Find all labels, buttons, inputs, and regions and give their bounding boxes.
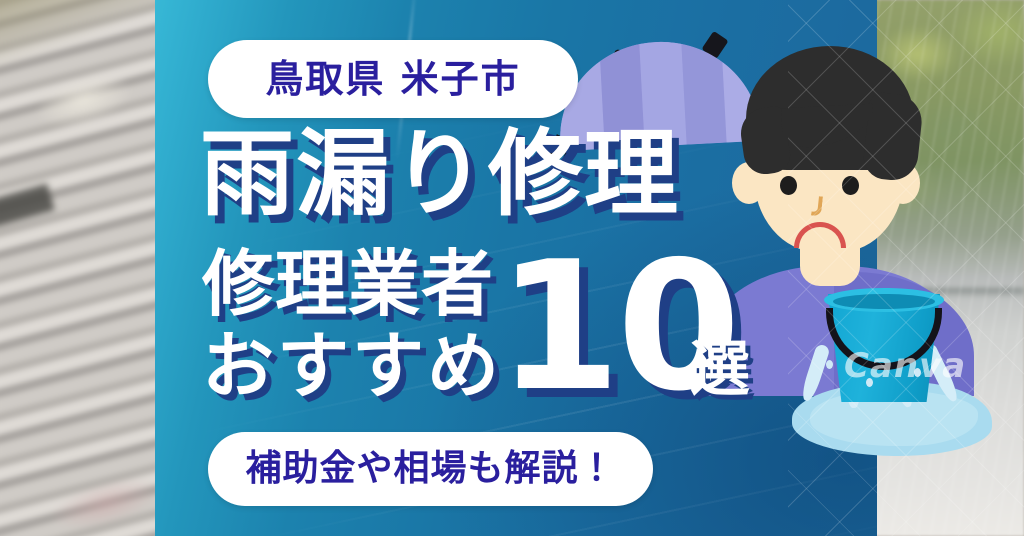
banner-root: Canva 鳥取県 米子市 雨漏り修理 修理業者 おすすめ 10 選 補助金や相… [0,0,1024,536]
subtitle-line-1: 修理業者 [202,248,494,320]
roof-tint-patch [44,467,168,536]
region-label: 鳥取県 米子市 [265,60,520,98]
person-eye-left [780,176,797,195]
roof-dark-shingle [0,183,55,227]
region-pill: 鳥取県 米子市 [208,40,578,118]
roof-moss-patch [29,64,140,137]
count-unit: 選 [690,340,750,400]
canva-watermark-text: Canva [844,346,966,386]
roof-photo-icon [0,0,177,536]
bucket-rim-inner [833,294,935,309]
bucket-icon: Canva [800,286,1000,466]
footer-pill: 補助金や相場も解説！ [208,432,653,506]
person-eye-right [842,176,859,195]
page-title: 雨漏り修理 [200,128,680,222]
footer-label: 補助金や相場も解説！ [245,451,615,487]
subtitle-line-2: おすすめ [202,330,502,402]
